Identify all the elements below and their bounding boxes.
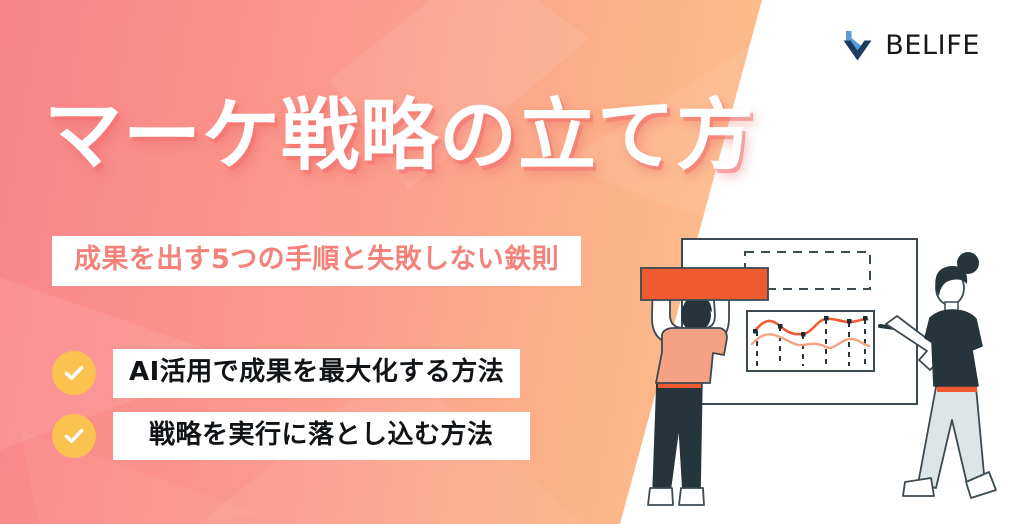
banner-canvas: BELIFE マーケ戦略の立て方 成果を出す5つの手順と失敗しない鉄則 AI活用… — [0, 0, 1024, 524]
man-shoe-left — [648, 488, 673, 505]
check-glyph — [61, 423, 87, 449]
check-icon — [52, 414, 96, 458]
whiteboard-chart — [747, 311, 874, 371]
bullet-box: AI活用で成果を最大化する方法 — [113, 349, 520, 398]
woman-shoe-back — [903, 478, 934, 496]
list-item-label: 戦略を実行に落とし込む方法 — [129, 419, 514, 452]
orange-banner — [641, 268, 768, 300]
illustration-svg — [600, 220, 1024, 524]
check-icon — [52, 351, 96, 395]
list-item-label: AI活用で成果を最大化する方法 — [129, 356, 504, 389]
chart-frame — [747, 311, 874, 371]
check-glyph — [61, 360, 87, 386]
list-item: AI活用で成果を最大化する方法 — [52, 349, 530, 398]
illustration-two-people-presenting-whiteboard — [600, 220, 1024, 524]
brand-logo-text: BELIFE — [885, 30, 980, 61]
subtitle-text: 成果を出す5つの手順と失敗しない鉄則 — [74, 243, 559, 277]
woman-hair-bun — [957, 252, 979, 274]
bullet-list: AI活用で成果を最大化する方法 戦略を実行に落とし込む方法 — [52, 349, 530, 474]
subtitle-bar: 成果を出す5つの手順と失敗しない鉄則 — [52, 236, 581, 286]
man-pants — [653, 380, 702, 492]
brand-logo[interactable]: BELIFE — [840, 26, 980, 64]
man-shoe-right — [679, 488, 704, 505]
page-title: マーケ戦略の立て方 — [44, 96, 755, 178]
double-chevron-check-icon — [840, 26, 876, 64]
woman-top — [925, 310, 982, 386]
bullet-box: 戦略を実行に落とし込む方法 — [113, 412, 530, 461]
woman-pants — [918, 387, 985, 488]
list-item: 戦略を実行に落とし込む方法 — [52, 412, 530, 461]
